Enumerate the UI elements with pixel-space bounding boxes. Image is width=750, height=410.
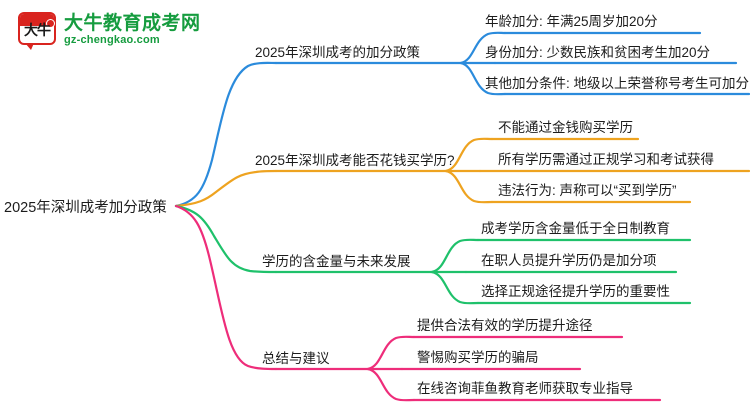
mindmap-leaf-node[interactable]: 在职人员提升学历仍是加分项 bbox=[481, 249, 657, 269]
mindmap-branch-node-2[interactable]: 2025年深圳成考能否花钱买学历? bbox=[255, 149, 455, 169]
mindmap-canvas: 大牛 大牛教育成考网 gz-chengkao.com 2025年深圳成考加分政策… bbox=[0, 0, 750, 410]
root-to-branch-3-curve bbox=[176, 206, 276, 272]
mindmap-leaf-node[interactable]: 其他加分条件: 地级以上荣誉称号考生可加分 bbox=[485, 72, 749, 92]
mindmap-leaf-node[interactable]: 不能通过金钱购买学历 bbox=[498, 116, 633, 136]
mindmap-leaf-node[interactable]: 年龄加分: 年满25周岁加20分 bbox=[485, 10, 658, 30]
logo-title: 大牛教育成考网 bbox=[64, 13, 201, 34]
logo-bubble-icon: 大牛 bbox=[18, 10, 58, 50]
mindmap-leaf-node[interactable]: 提供合法有效的学历提升途径 bbox=[417, 314, 593, 334]
logo-mark-text: 大牛 bbox=[18, 22, 56, 38]
mindmap-leaf-node[interactable]: 选择正规途径提升学历的重要性 bbox=[481, 280, 670, 300]
root-to-branch-1-curve bbox=[176, 63, 276, 206]
branch-4-child-3-curve bbox=[368, 369, 414, 400]
logo-subtitle: gz-chengkao.com bbox=[64, 34, 201, 47]
mindmap-leaf-node[interactable]: 警惕购买学历的骗局 bbox=[417, 346, 539, 366]
root-to-branch-4-curve bbox=[176, 206, 276, 369]
branch-3-child-1-curve bbox=[432, 240, 478, 272]
mindmap-leaf-node[interactable]: 成考学历含金量低于全日制教育 bbox=[481, 217, 670, 237]
site-logo: 大牛 大牛教育成考网 gz-chengkao.com bbox=[18, 10, 201, 50]
mindmap-branch-node-1[interactable]: 2025年深圳成考的加分政策 bbox=[255, 41, 420, 61]
branch-3-child-3-curve bbox=[432, 272, 478, 303]
branch-4-child-1-curve bbox=[368, 337, 414, 369]
mindmap-leaf-node[interactable]: 所有学历需通过正规学习和考试获得 bbox=[498, 148, 714, 168]
mindmap-leaf-node[interactable]: 身份加分: 少数民族和贫困考生加20分 bbox=[485, 41, 710, 61]
mindmap-branch-node-3[interactable]: 学历的含金量与未来发展 bbox=[262, 250, 411, 270]
branch-2-child-3-curve bbox=[446, 171, 492, 202]
mindmap-leaf-node[interactable]: 违法行为: 声称可以“买到学历” bbox=[498, 179, 677, 199]
root-to-branch-2-curve bbox=[176, 171, 276, 206]
mindmap-branch-node-4[interactable]: 总结与建议 bbox=[262, 347, 330, 367]
mindmap-leaf-node[interactable]: 在线咨询菲鱼教育老师获取专业指导 bbox=[417, 377, 633, 397]
mindmap-root-node[interactable]: 2025年深圳成考加分政策 bbox=[4, 196, 167, 217]
